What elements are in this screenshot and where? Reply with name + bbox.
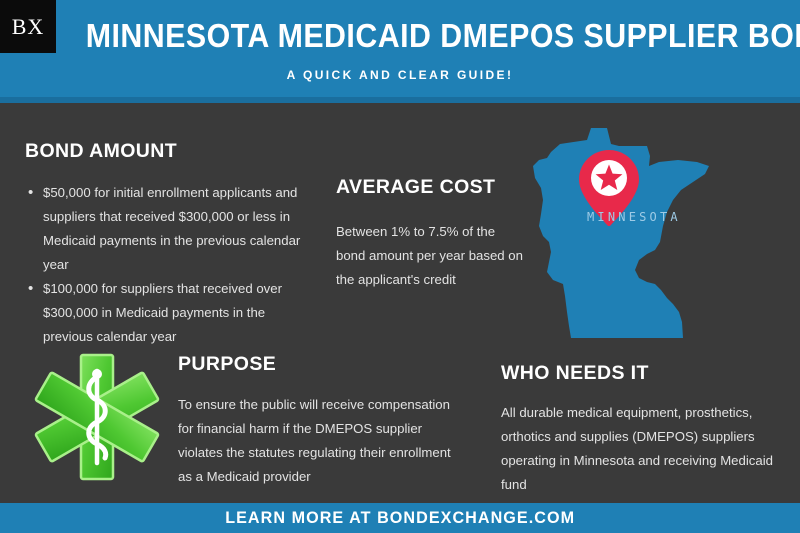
section-body-who-needs-it: All durable medical equipment, prostheti… [501, 401, 781, 497]
brand-logo-text: BX [12, 16, 45, 38]
star-of-life-icon [34, 352, 160, 482]
page-title: MINNESOTA MEDICAID DMEPOS SUPPLIER BOND [86, 17, 770, 55]
section-title-average-cost: AVERAGE COST [336, 176, 495, 199]
footer-banner[interactable]: LEARN MORE AT BONDEXCHANGE.COM [0, 503, 800, 533]
footer-cta-text[interactable]: LEARN MORE AT BONDEXCHANGE.COM [225, 508, 575, 528]
list-item: $50,000 for initial enrollment applicant… [43, 181, 316, 277]
list-item: $100,000 for suppliers that received ove… [43, 277, 316, 349]
header-banner: BX MINNESOTA MEDICAID DMEPOS SUPPLIER BO… [0, 0, 800, 97]
star-of-life-svg [34, 352, 160, 482]
section-body-average-cost: Between 1% to 7.5% of the bond amount pe… [336, 220, 526, 292]
map-state-label: MINNESOTA [587, 210, 681, 224]
brand-logo: BX [0, 0, 56, 53]
section-body-purpose: To ensure the public will receive compen… [178, 393, 468, 489]
infographic-canvas: BX MINNESOTA MEDICAID DMEPOS SUPPLIER BO… [0, 0, 800, 533]
page-subtitle: A QUICK AND CLEAR GUIDE! [0, 68, 800, 82]
section-title-purpose: PURPOSE [178, 353, 276, 376]
header-underline-divider [0, 97, 800, 103]
bond-amount-list: $50,000 for initial enrollment applicant… [26, 181, 316, 349]
minnesota-map-graphic: MINNESOTA [527, 126, 742, 346]
section-title-bond-amount: BOND AMOUNT [25, 140, 177, 163]
section-title-who-needs-it: WHO NEEDS IT [501, 362, 649, 385]
section-body-bond-amount: $50,000 for initial enrollment applicant… [26, 181, 316, 349]
